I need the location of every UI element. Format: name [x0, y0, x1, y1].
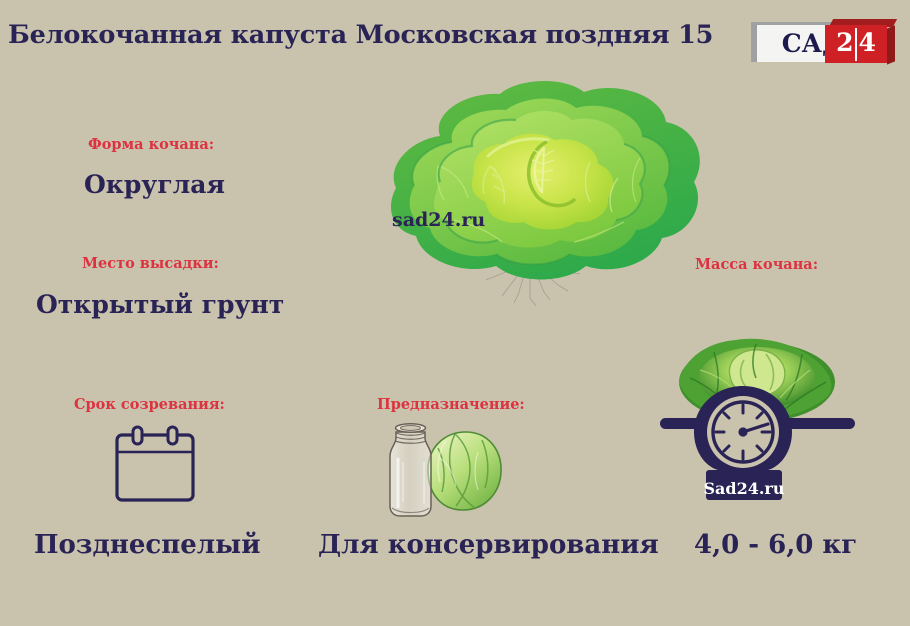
- label-massa-kochana: Масса кочана:: [695, 256, 818, 273]
- logo-red-side-face: [887, 25, 895, 64]
- jar-with-cabbage-icon: [378, 418, 503, 523]
- label-mesto-vysadki: Место высадки:: [82, 255, 219, 272]
- sad24-logo: САД 24: [751, 16, 896, 64]
- logo-divider: [855, 28, 857, 61]
- calendar-icon: [114, 425, 196, 503]
- scale-brand-text: Sad24.ru: [703, 479, 784, 498]
- cabbage-illustration: [378, 70, 708, 315]
- scale-icon: Sad24.ru: [660, 320, 855, 505]
- value-forma-kochana: Округлая: [84, 170, 225, 199]
- value-mesto-vysadki: Открытый грунт: [36, 290, 284, 319]
- infographic-canvas: Белокочанная капуста Московская поздняя …: [0, 0, 910, 626]
- label-forma-kochana: Форма кочана:: [88, 136, 214, 153]
- value-massa-kochana: 4,0 - 6,0 кг: [694, 530, 857, 560]
- label-prednaznachenie: Предназначение:: [377, 396, 525, 413]
- value-prednaznachenie: Для консервирования: [318, 530, 659, 560]
- watermark-sad24: sad24.ru: [392, 209, 485, 231]
- value-srok-sozrevaniya: Позднеспелый: [34, 530, 260, 560]
- label-srok-sozrevaniya: Срок созревания:: [74, 396, 225, 413]
- page-title: Белокочанная капуста Московская поздняя …: [8, 20, 713, 50]
